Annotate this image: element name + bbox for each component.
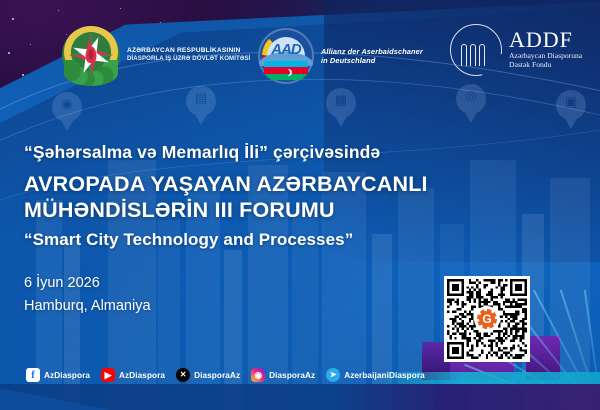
map-pin-icon: ▣ [556,90,586,130]
event-date: 6 İyun 2026 [24,272,494,294]
social-facebook[interactable]: f AzDiaspora [26,368,90,382]
addf-line2: Dəstək Fondu [509,60,582,70]
addf-wordmark: ADDF [509,30,582,51]
headline: AVROPADA YAŞAYAN AZƏRBAYCANLI MÜHƏNDİSLƏ… [24,171,494,223]
aad-line1: Allianz der Aserbaidschaner [321,47,423,56]
social-x[interactable]: ✕ DiasporaAz [176,368,240,382]
logo-aad: AAD Allianz der Aserbaidschaner in Deuts… [258,28,423,84]
map-pin-icon: ▤ [186,86,216,126]
youtube-icon: ▶ [101,368,115,382]
map-pin-icon: ◉ [52,92,82,132]
instagram-icon: ◉ [251,368,265,382]
event-location: Hamburq, Almaniya [24,295,494,317]
logo-state-committee: AZƏRBAYCAN RESPUBLİKASININ DİASPORLA İŞ … [62,26,250,84]
telegram-icon: ➤ [326,368,340,382]
event-poster: ◉ ▤ ▦ ◎ ▣ AZƏRBAYCAN RESPUBL [0,0,600,410]
azerbaijan-state-emblem-icon [62,26,120,84]
addf-logo-icon [450,24,502,76]
aad-logo-icon: AAD [258,28,314,84]
social-bar: f AzDiaspora ▶ AzDiaspora ✕ DiasporaAz ◉… [26,368,425,382]
poster-copy: “Şəhərsalma və Memarlıq İli” çərçivəsind… [24,142,494,317]
headline-line-1: AVROPADA YAŞAYAN AZƏRBAYCANLI [24,171,494,197]
social-youtube[interactable]: ▶ AzDiaspora [101,368,165,382]
facebook-handle: AzDiaspora [44,371,90,380]
x-handle: DiasporaAz [194,371,240,380]
facebook-icon: f [26,368,40,382]
headline-line-2: MÜHƏNDİSLƏRİN III FORUMU [24,197,494,223]
gear-g-icon [474,306,500,332]
map-pin-icon: ▦ [326,88,356,128]
instagram-handle: DiasporaAz [269,371,315,380]
telegram-handle: AzerbaijaniDiaspora [344,371,425,380]
framing-line: “Şəhərsalma və Memarlıq İli” çərçivəsind… [24,142,494,163]
aad-line2: in Deutschland [321,56,423,65]
state-committee-line1: AZƏRBAYCAN RESPUBLİKASININ [127,47,250,55]
logo-addf: ADDF Azərbaycan Diasporuna Dəstək Fondu [450,24,582,76]
state-committee-line2: DİASPORLA İŞ ÜZRƏ DÖVLƏT KOMİTƏSİ [127,55,250,63]
youtube-handle: AzDiaspora [119,371,165,380]
social-instagram[interactable]: ◉ DiasporaAz [251,368,315,382]
english-theme: “Smart City Technology and Processes” [24,230,494,250]
addf-line1: Azərbaycan Diasporuna [509,51,582,61]
social-telegram[interactable]: ➤ AzerbaijaniDiaspora [326,368,425,382]
x-twitter-icon: ✕ [176,368,190,382]
qr-code[interactable] [444,276,530,362]
map-pin-icon: ◎ [456,84,486,124]
event-details: 6 İyun 2026 Hamburq, Almaniya [24,272,494,317]
aad-mark: AAD [258,41,314,58]
